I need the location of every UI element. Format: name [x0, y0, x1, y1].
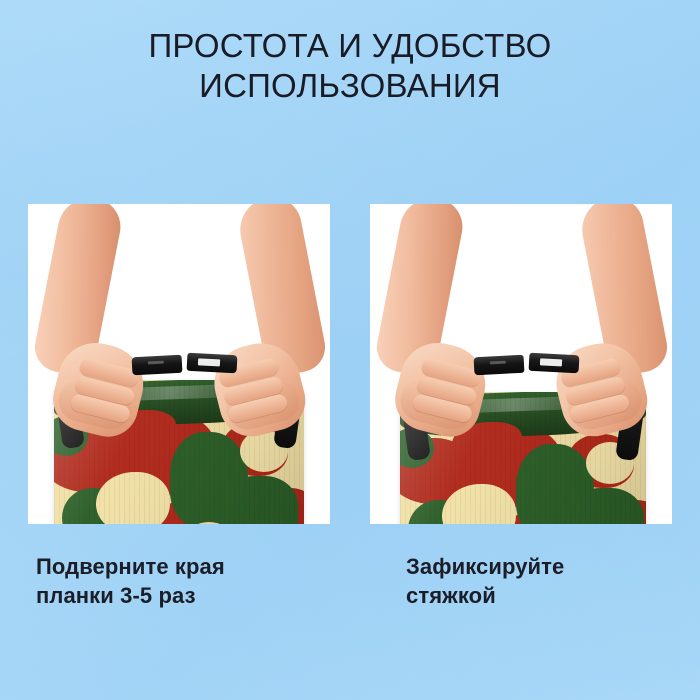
- step-photo-1: [28, 204, 330, 524]
- photo-scene-1: [28, 204, 330, 524]
- step-caption-1-line-2: планки 3-5 раз: [36, 581, 336, 610]
- step-photo-2: [370, 204, 672, 524]
- buckle-half-right: [187, 353, 238, 374]
- photo-scene-2: [370, 204, 672, 524]
- step-caption-2-line-2: стяжкой: [406, 581, 686, 610]
- page-title-line-2: ИСПОЛЬЗОВАНИЯ: [0, 66, 700, 106]
- buckle-half-left: [132, 355, 183, 376]
- page-title: ПРОСТОТА И УДОБСТВО ИСПОЛЬЗОВАНИЯ: [0, 26, 700, 107]
- page-title-line-1: ПРОСТОТА И УДОБСТВО: [0, 26, 700, 66]
- step-caption-2-line-1: Зафиксируйте: [406, 552, 686, 581]
- step-caption-2: Зафиксируйте стяжкой: [406, 552, 686, 610]
- step-caption-1-line-1: Подверните края: [36, 552, 336, 581]
- buckle-half-right: [529, 353, 580, 374]
- step-caption-1: Подверните края планки 3-5 раз: [36, 552, 336, 610]
- buckle-half-left: [474, 355, 525, 376]
- steps-gallery: [0, 204, 700, 524]
